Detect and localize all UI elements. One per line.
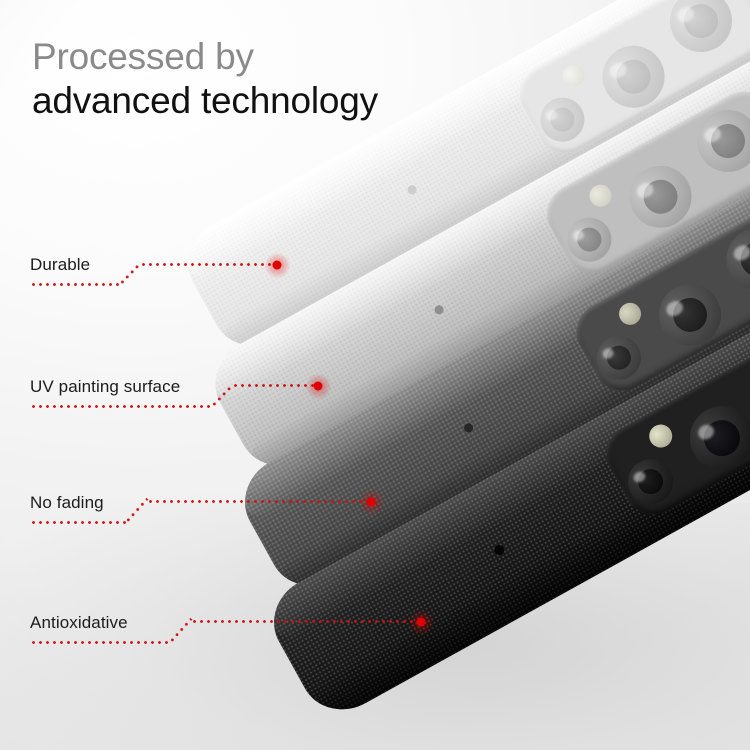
callout-underline	[30, 405, 212, 408]
feature-callouts: Durable UV painting surface No fading An…	[0, 0, 750, 750]
callout-leader-line	[147, 500, 367, 503]
callout-label: Durable	[30, 255, 90, 275]
callout-diagonal	[119, 262, 142, 286]
callout-marker	[314, 382, 323, 391]
callout-marker	[367, 498, 376, 507]
callout-marker	[417, 618, 426, 627]
product-feature-graphic: Processed by advanced technology Durable…	[0, 0, 750, 750]
callout-underline	[30, 521, 126, 524]
callout-underline	[30, 641, 170, 644]
callout-leader-line	[232, 384, 314, 387]
callout-label: Antioxidative	[30, 613, 128, 633]
callout-marker	[273, 261, 282, 270]
callout-label: No fading	[30, 493, 104, 513]
callout-label: UV painting surface	[30, 377, 180, 397]
callout-diagonal	[211, 384, 234, 408]
callout-underline	[30, 283, 120, 286]
callout-leader-line	[191, 620, 417, 623]
callout-diagonal	[169, 618, 193, 644]
callout-leader-line	[140, 263, 273, 266]
callout-diagonal	[125, 498, 149, 524]
